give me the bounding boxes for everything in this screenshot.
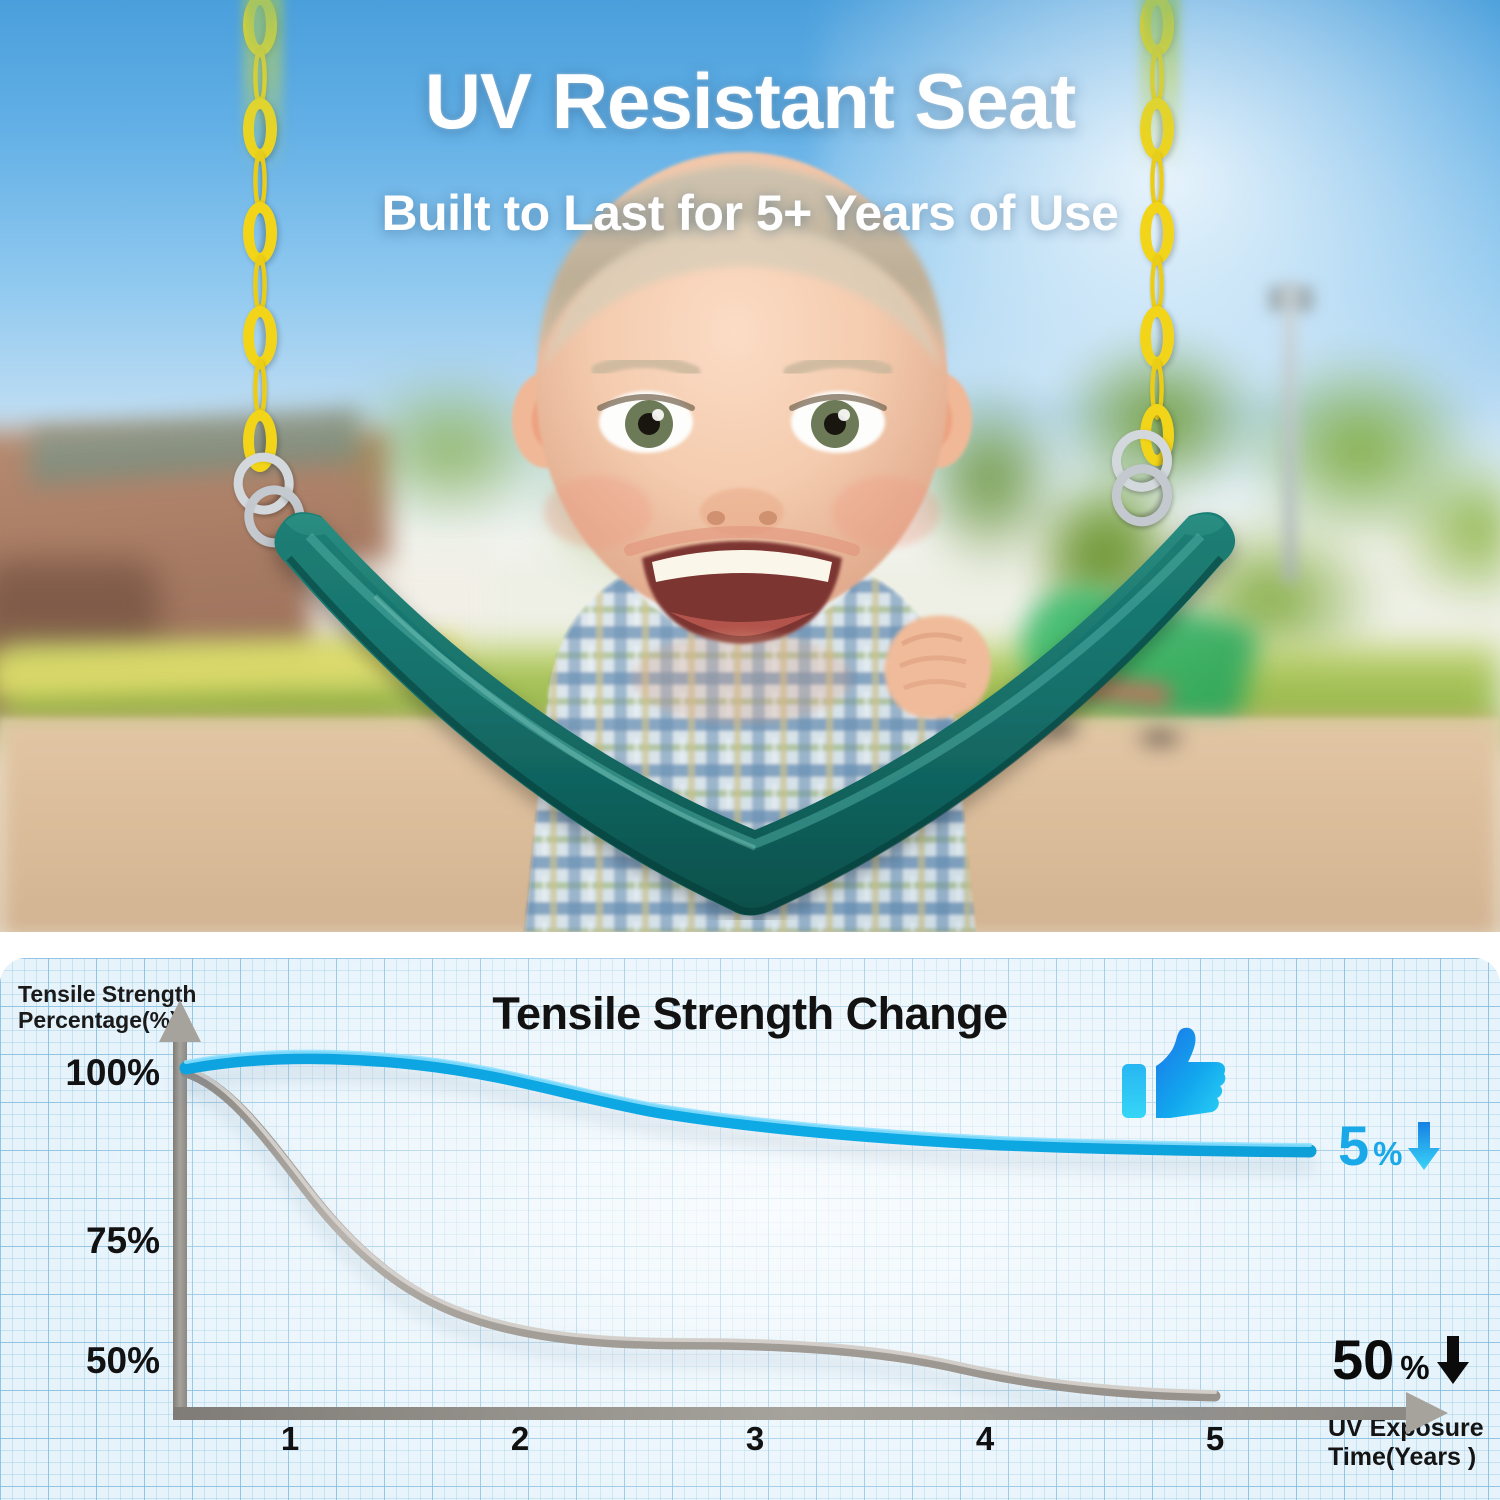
annotation-black-value: 50 bbox=[1332, 1332, 1394, 1388]
annotation-ordinary-drop: 50 % bbox=[1332, 1332, 1470, 1388]
down-arrow-black-icon bbox=[1436, 1334, 1470, 1386]
y-axis-line bbox=[173, 1030, 187, 1420]
background-light-pole bbox=[1283, 282, 1297, 582]
tensile-strength-chart: Tensile Strength Change Tensile Strength… bbox=[0, 958, 1500, 1500]
x-axis-line bbox=[173, 1407, 1418, 1420]
hero-subheadline: Built to Last for 5+ Years of Use bbox=[0, 188, 1500, 238]
hero-photo: UV Resistant Seat Built to Last for 5+ Y… bbox=[0, 0, 1500, 932]
product-infographic: UV Resistant Seat Built to Last for 5+ Y… bbox=[0, 0, 1500, 1500]
annotation-blue-value: 5 bbox=[1338, 1118, 1369, 1174]
annotation-black-unit: % bbox=[1400, 1351, 1429, 1384]
annotation-blue-unit: % bbox=[1373, 1137, 1402, 1170]
hero-headline: UV Resistant Seat bbox=[0, 62, 1500, 140]
y-axis-arrow bbox=[159, 1000, 201, 1042]
annotation-uv-resistant-drop: 5 % bbox=[1338, 1118, 1441, 1174]
swing-seat bbox=[255, 500, 1255, 920]
thumbs-up-icon bbox=[1118, 1024, 1228, 1124]
down-arrow-blue-icon bbox=[1407, 1120, 1441, 1172]
chart-plot bbox=[0, 958, 1500, 1500]
x-axis-arrow bbox=[1406, 1392, 1448, 1434]
